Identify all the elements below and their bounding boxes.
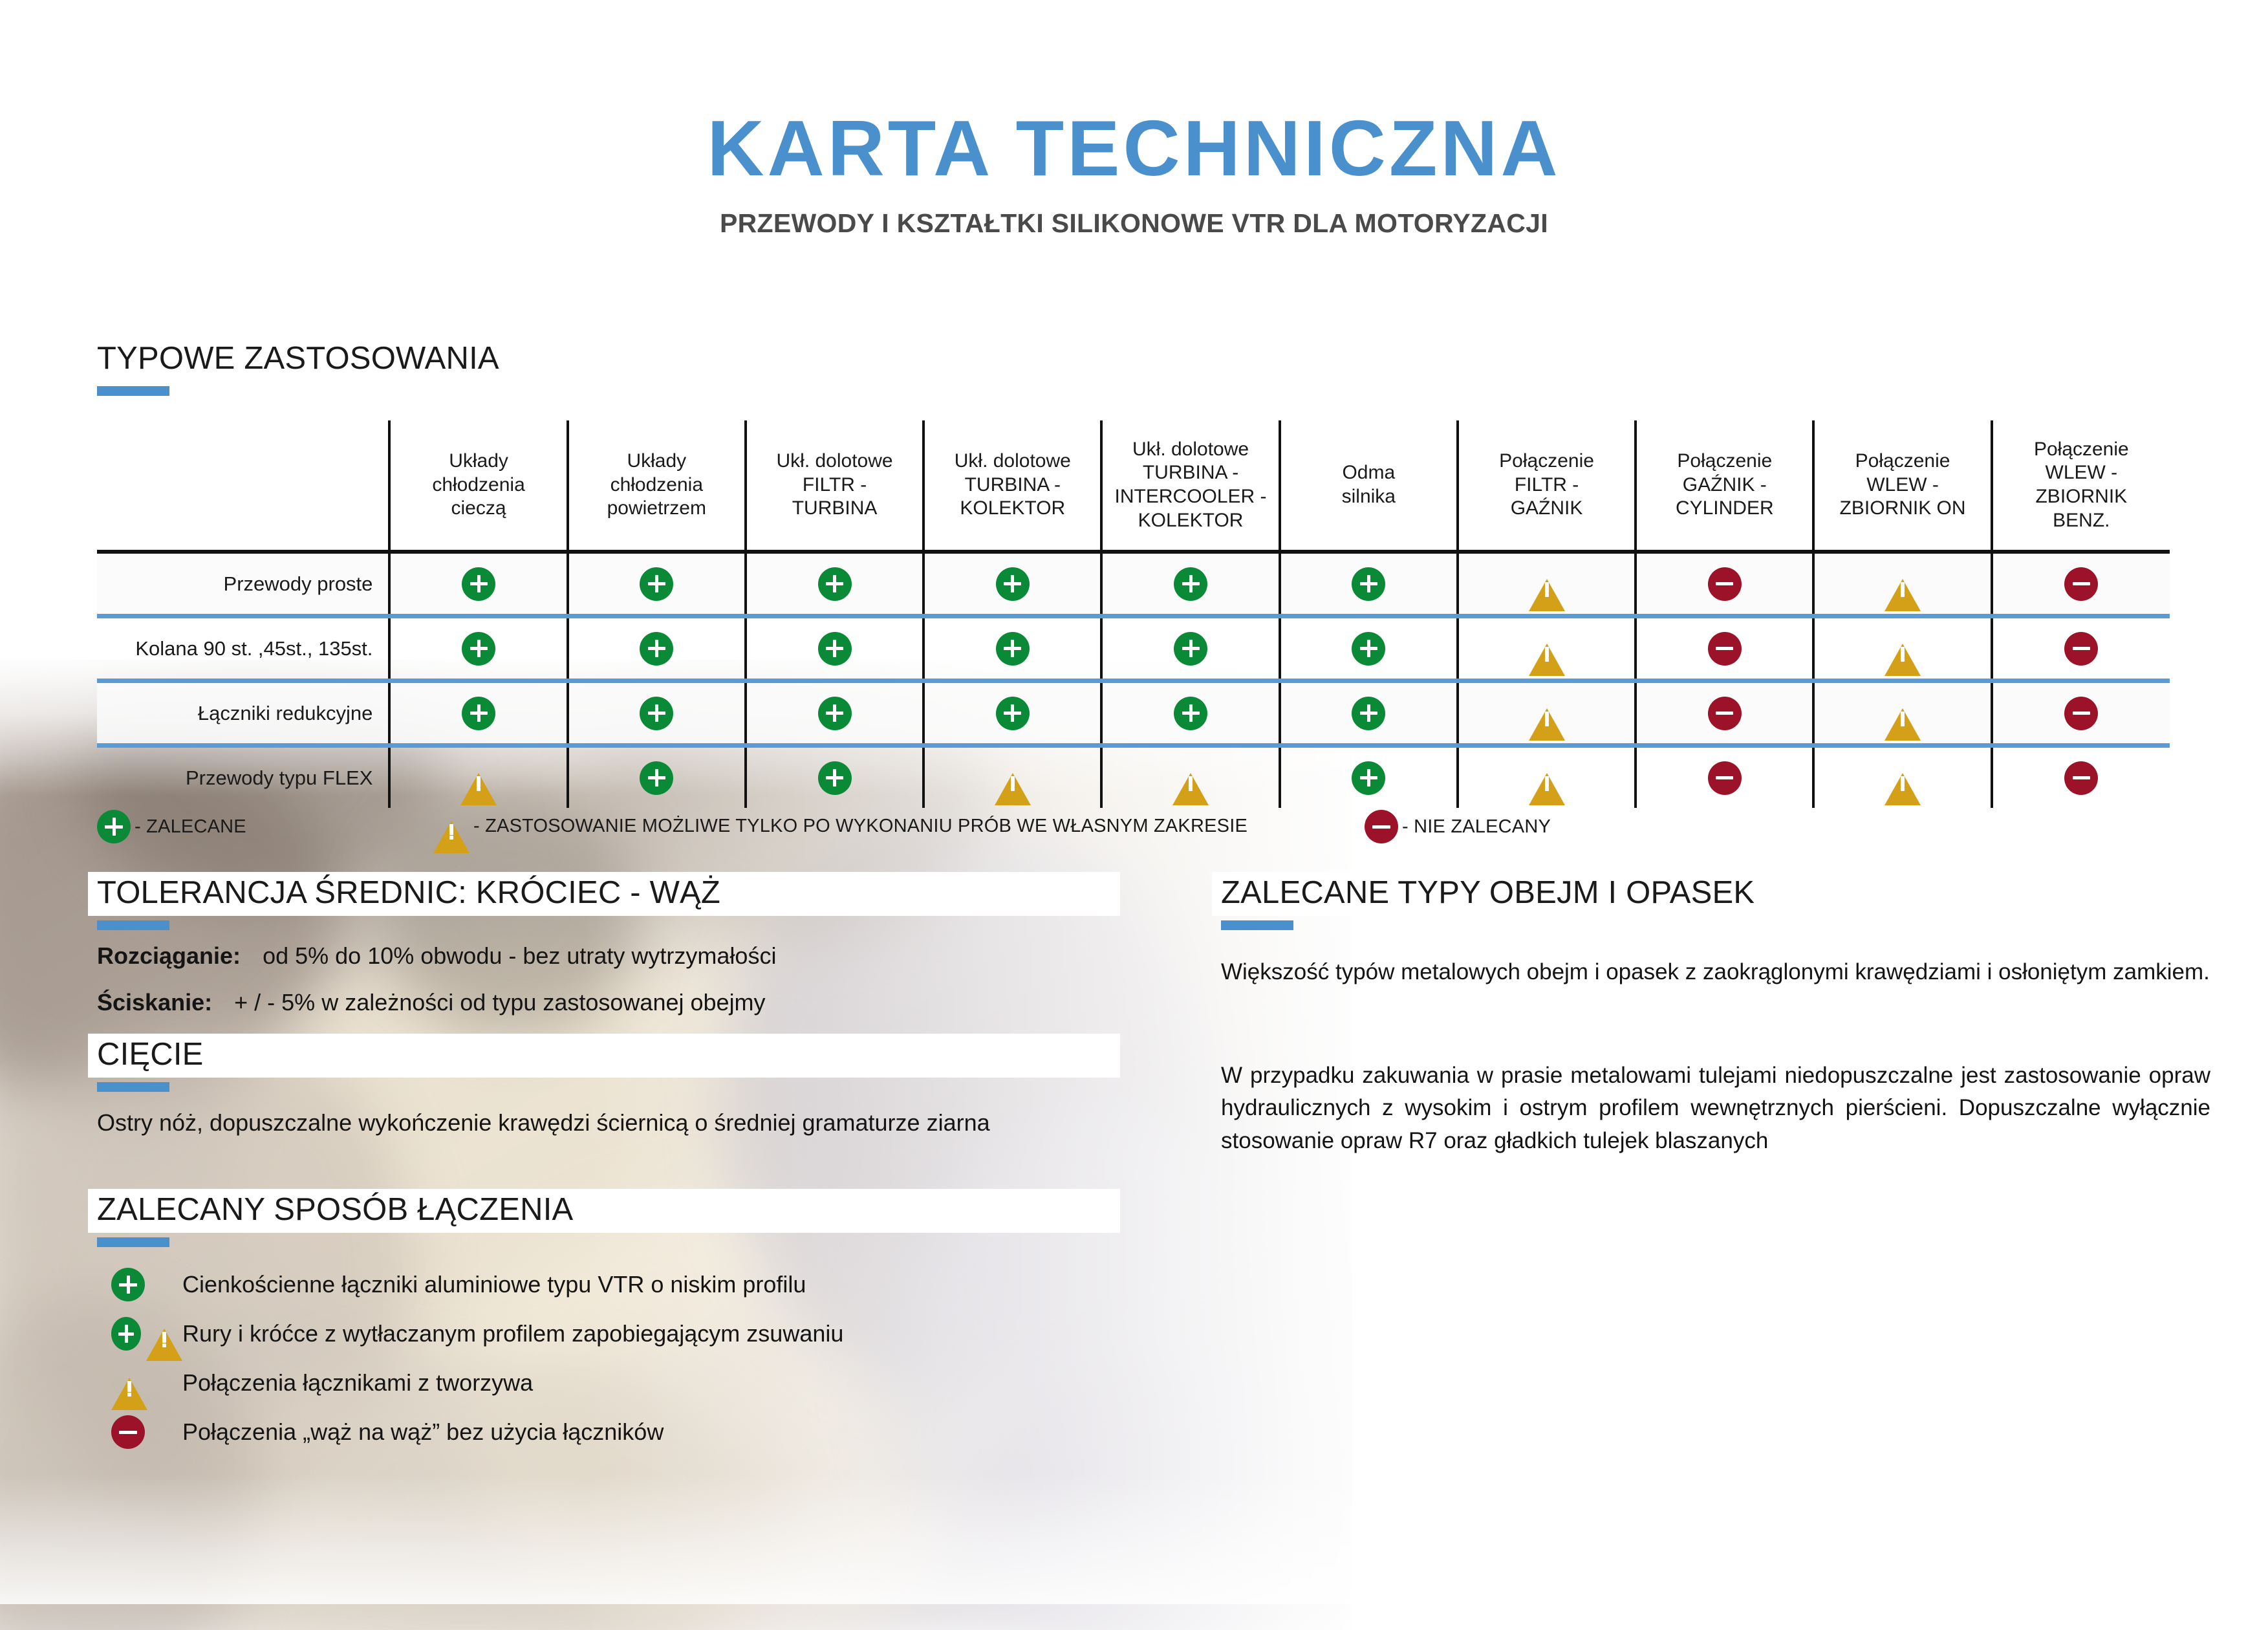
table-body: Przewody prosteKolana 90 st. ,45st., 135…: [97, 552, 2170, 808]
status-cell-r3-c6: [1458, 746, 1636, 809]
plus-icon: [1352, 697, 1385, 730]
status-cell-r0-c3: [923, 552, 1101, 616]
status-cell-r1-c2: [746, 616, 923, 681]
minus-icon: [2064, 697, 2098, 730]
section-heading-clamps: ZALECANE TYPY OBEJM I OPASEK: [1212, 872, 2244, 930]
accent-rule: [1221, 920, 1293, 930]
section-heading-applications: TYPOWE ZASTOSOWANIA: [88, 338, 513, 396]
status-cell-r2-c5: [1280, 681, 1458, 746]
minus-icon: [1365, 810, 1398, 843]
legend-label-recommended: - ZALECANE: [135, 816, 246, 838]
minus-icon: [111, 1415, 145, 1449]
status-cell-r2-c2: [746, 681, 923, 746]
tolerance-compress-label: Ściskanie:: [97, 989, 212, 1016]
status-cell-r1-c4: [1101, 616, 1279, 681]
column-header-line: Układy: [574, 450, 739, 473]
status-cell-r3-c1: [568, 746, 746, 809]
status-cell-r2-c8: [1813, 681, 1991, 746]
row-label-1: Kolana 90 st. ,45st., 135st.: [97, 616, 389, 681]
column-header-line: Połączenie: [1998, 438, 2165, 462]
table-header-row: UkładychłodzeniaciecząUkładychłodzeniapo…: [97, 420, 2170, 552]
warning-icon: [1529, 568, 1565, 600]
page-title: KARTA TECHNICZNA: [0, 109, 2268, 188]
minus-icon: [1708, 697, 1742, 730]
plus-icon: [818, 697, 852, 730]
column-header-line: ZBIORNIK ON: [1820, 497, 1985, 521]
warning-icon: [1885, 762, 1921, 794]
plus-icon: [818, 567, 852, 601]
plus-icon: [1352, 567, 1385, 601]
column-header-line: FILTR -: [1464, 473, 1629, 497]
column-header-9: PołączenieWLEW -ZBIORNIKBENZ.: [1992, 420, 2170, 552]
column-header-line: chłodzenia: [396, 473, 561, 497]
clamps-paragraph-1: Większość typów metalowych obejm i opase…: [1221, 956, 2217, 988]
minus-icon: [2064, 761, 2098, 795]
status-cell-r1-c6: [1458, 616, 1636, 681]
status-cell-r1-c1: [568, 616, 746, 681]
column-header-line: Ukł. dolotowe: [1108, 438, 1273, 462]
tolerance-compress-row: Ściskanie: + / - 5% w zależności od typu…: [97, 986, 1106, 1019]
column-header-line: WLEW -: [1998, 461, 2165, 485]
warning-icon: [995, 762, 1031, 794]
tolerance-stretch-value: od 5% do 10% obwodu - bez utraty wytrzym…: [263, 942, 776, 969]
section-title-applications: TYPOWE ZASTOSOWANIA: [88, 338, 513, 382]
applications-table: UkładychłodzeniaciecząUkładychłodzeniapo…: [97, 420, 2170, 808]
legend-item-not-recommended: - NIE ZALECANY: [1365, 810, 1551, 843]
column-header-line: INTERCOOLER -: [1108, 485, 1273, 509]
column-header-line: TURBINA: [752, 497, 917, 521]
plus-icon: [462, 697, 495, 730]
status-cell-r3-c3: [923, 746, 1101, 809]
status-cell-r1-c3: [923, 616, 1101, 681]
warning-icon: [433, 810, 470, 842]
minus-icon: [1708, 761, 1742, 795]
status-cell-r2-c4: [1101, 681, 1279, 746]
status-cell-r2-c1: [568, 681, 746, 746]
plus-icon: [462, 567, 495, 601]
column-header-line: Połączenie: [1820, 450, 1985, 473]
minus-icon: [2064, 567, 2098, 601]
minus-icon: [1365, 810, 1398, 843]
status-cell-r1-c0: [389, 616, 567, 681]
clamps-paragraph-2: W przypadku zakuwania w prasie metalowam…: [1221, 1059, 2210, 1157]
status-legend: - ZALECANE - ZASTOSOWANIE MOŻLIWE TYLKO …: [97, 807, 1584, 853]
plus-icon: [1174, 567, 1207, 601]
joining-item-icons: [97, 1367, 182, 1399]
column-header-line: Układy: [396, 450, 561, 473]
status-cell-r0-c6: [1458, 552, 1636, 616]
column-header-line: WLEW -: [1820, 473, 1985, 497]
section-title-tolerance: TOLERANCJA ŚREDNIC: KRÓCIEC - WĄŻ: [88, 872, 1120, 916]
warning-icon: [1529, 762, 1565, 794]
column-header-line: silnika: [1286, 485, 1451, 509]
warning-icon: [1172, 762, 1209, 794]
row-label-0: Przewody proste: [97, 552, 389, 616]
plus-icon: [996, 697, 1030, 730]
joining-item-label: Cienkościenne łączniki aluminiowe typu V…: [182, 1271, 806, 1298]
joining-item-label: Połączenia łącznikami z tworzywa: [182, 1369, 533, 1396]
plus-icon: [818, 632, 852, 666]
table-row: Łączniki redukcyjne: [97, 681, 2170, 746]
column-header-line: Połączenie: [1642, 450, 1807, 473]
status-cell-r3-c0: [389, 746, 567, 809]
table-row: Przewody typu FLEX: [97, 746, 2170, 809]
status-cell-r3-c9: [1992, 746, 2170, 809]
column-header-line: GAŹNIK -: [1642, 473, 1807, 497]
column-header-line: Połączenie: [1464, 450, 1629, 473]
joining-item-icons: [97, 1415, 182, 1449]
column-header-line: Ukł. dolotowe: [752, 450, 917, 473]
row-label-3: Przewody typu FLEX: [97, 746, 389, 809]
status-cell-r0-c9: [1992, 552, 2170, 616]
status-cell-r1-c7: [1636, 616, 1813, 681]
table-corner-cell: [97, 420, 389, 552]
status-cell-r3-c2: [746, 746, 923, 809]
column-header-line: KOLEKTOR: [1108, 509, 1273, 533]
column-header-line: Odma: [1286, 461, 1451, 485]
status-cell-r2-c0: [389, 681, 567, 746]
status-cell-r0-c4: [1101, 552, 1279, 616]
warning-icon: [1529, 697, 1565, 730]
status-cell-r1-c9: [1992, 616, 2170, 681]
column-header-line: KOLEKTOR: [930, 497, 1095, 521]
legend-label-not-recommended: - NIE ZALECANY: [1402, 816, 1551, 838]
tolerance-stretch-row: Rozciąganie: od 5% do 10% obwodu - bez u…: [97, 939, 1106, 972]
status-cell-r1-c8: [1813, 616, 1991, 681]
plus-icon: [640, 632, 673, 666]
column-header-0: Układychłodzeniacieczą: [389, 420, 567, 552]
warning-icon: [433, 810, 470, 842]
table-row: Kolana 90 st. ,45st., 135st.: [97, 616, 2170, 681]
joining-list-item: Połączenia łącznikami z tworzywa: [97, 1358, 1132, 1407]
column-header-line: FILTR -: [752, 473, 917, 497]
status-cell-r0-c8: [1813, 552, 1991, 616]
plus-icon: [1352, 632, 1385, 666]
minus-icon: [1708, 632, 1742, 666]
column-header-line: ZBIORNIK: [1998, 485, 2165, 509]
status-cell-r0-c7: [1636, 552, 1813, 616]
warning-icon: [460, 762, 497, 794]
accent-rule: [97, 386, 169, 396]
page-subtitle: PRZEWODY I KSZTAŁTKI SILIKONOWE VTR DLA …: [0, 208, 2268, 239]
plus-icon: [996, 632, 1030, 666]
plus-icon: [462, 632, 495, 666]
plus-icon: [111, 1317, 141, 1351]
status-cell-r3-c5: [1280, 746, 1458, 809]
joining-item-icons: [97, 1317, 182, 1351]
warning-icon: [111, 1367, 147, 1399]
status-cell-r1-c5: [1280, 616, 1458, 681]
joining-list-item: Cienkościenne łączniki aluminiowe typu V…: [97, 1260, 1132, 1309]
joining-item-icons: [97, 1268, 182, 1301]
column-header-5: Odmasilnika: [1280, 420, 1458, 552]
column-header-8: PołączenieWLEW -ZBIORNIK ON: [1813, 420, 1991, 552]
column-header-line: chłodzenia: [574, 473, 739, 497]
status-cell-r0-c2: [746, 552, 923, 616]
column-header-line: powietrzem: [574, 497, 739, 521]
joining-item-label: Połączenia „wąż na wąż” bez użycia łączn…: [182, 1418, 664, 1446]
status-cell-r0-c0: [389, 552, 567, 616]
section-title-cutting: CIĘCIE: [88, 1034, 1120, 1078]
plus-icon: [97, 810, 131, 843]
column-header-1: Układychłodzeniapowietrzem: [568, 420, 746, 552]
status-cell-r3-c4: [1101, 746, 1279, 809]
joining-item-label: Rury i króćce z wytłaczanym profilem zap…: [182, 1320, 843, 1347]
column-header-4: Ukł. dolotoweTURBINA -INTERCOOLER -KOLEK…: [1101, 420, 1279, 552]
warning-icon: [1885, 697, 1921, 730]
column-header-line: cieczą: [396, 497, 561, 521]
status-cell-r0-c1: [568, 552, 746, 616]
plus-icon: [640, 761, 673, 795]
tolerance-stretch-label: Rozciąganie:: [97, 942, 241, 969]
status-cell-r2-c7: [1636, 681, 1813, 746]
status-cell-r0-c5: [1280, 552, 1458, 616]
section-heading-cutting: CIĘCIE: [88, 1034, 1120, 1092]
tolerance-compress-value: + / - 5% w zależności od typu zastosowan…: [234, 989, 765, 1016]
section-heading-joining: ZALECANY SPOSÓB ŁĄCZENIA: [88, 1189, 1120, 1247]
status-cell-r3-c7: [1636, 746, 1813, 809]
warning-icon: [1885, 633, 1921, 665]
column-header-7: PołączenieGAŹNIK -CYLINDER: [1636, 420, 1813, 552]
minus-icon: [2064, 632, 2098, 666]
plus-icon: [1174, 632, 1207, 666]
column-header-line: TURBINA -: [1108, 461, 1273, 485]
column-header-2: Ukł. dolotoweFILTR -TURBINA: [746, 420, 923, 552]
accent-rule: [97, 1237, 169, 1247]
joining-list-item: Rury i króćce z wytłaczanym profilem zap…: [97, 1309, 1132, 1358]
plus-icon: [818, 761, 852, 795]
warning-icon: [1885, 568, 1921, 600]
legend-item-conditional: - ZASTOSOWANIE MOŻLIWE TYLKO PO WYKONANI…: [433, 810, 1247, 842]
column-header-6: PołączenieFILTR -GAŹNIK: [1458, 420, 1636, 552]
warning-icon: [1529, 633, 1565, 665]
section-heading-tolerance: TOLERANCJA ŚREDNIC: KRÓCIEC - WĄŻ: [88, 872, 1120, 930]
accent-rule: [97, 920, 169, 930]
plus-icon: [640, 697, 673, 730]
status-cell-r2-c6: [1458, 681, 1636, 746]
plus-icon: [111, 1268, 145, 1301]
column-header-3: Ukł. dolotoweTURBINA -KOLEKTOR: [923, 420, 1101, 552]
table-row: Przewody proste: [97, 552, 2170, 616]
status-cell-r3-c8: [1813, 746, 1991, 809]
plus-icon: [97, 810, 131, 843]
status-cell-r2-c9: [1992, 681, 2170, 746]
section-title-joining: ZALECANY SPOSÓB ŁĄCZENIA: [88, 1189, 1120, 1233]
plus-icon: [1352, 761, 1385, 795]
warning-icon: [146, 1318, 182, 1350]
column-header-line: Ukł. dolotowe: [930, 450, 1095, 473]
status-cell-r2-c3: [923, 681, 1101, 746]
column-header-line: BENZ.: [1998, 509, 2165, 533]
plus-icon: [996, 567, 1030, 601]
joining-list-item: Połączenia „wąż na wąż” bez użycia łączn…: [97, 1407, 1132, 1457]
joining-methods-list: Cienkościenne łączniki aluminiowe typu V…: [97, 1260, 1132, 1457]
minus-icon: [1708, 567, 1742, 601]
legend-item-recommended: - ZALECANE: [97, 810, 246, 843]
accent-rule: [97, 1082, 169, 1092]
cutting-text: Ostry nóż, dopuszczalne wykończenie kraw…: [97, 1106, 1125, 1139]
column-header-line: TURBINA -: [930, 473, 1095, 497]
plus-icon: [1174, 697, 1207, 730]
legend-label-conditional: - ZASTOSOWANIE MOŻLIWE TYLKO PO WYKONANI…: [473, 816, 1247, 837]
column-header-line: CYLINDER: [1642, 497, 1807, 521]
plus-icon: [640, 567, 673, 601]
row-label-2: Łączniki redukcyjne: [97, 681, 389, 746]
section-title-clamps: ZALECANE TYPY OBEJM I OPASEK: [1212, 872, 2244, 916]
column-header-line: GAŹNIK: [1464, 497, 1629, 521]
